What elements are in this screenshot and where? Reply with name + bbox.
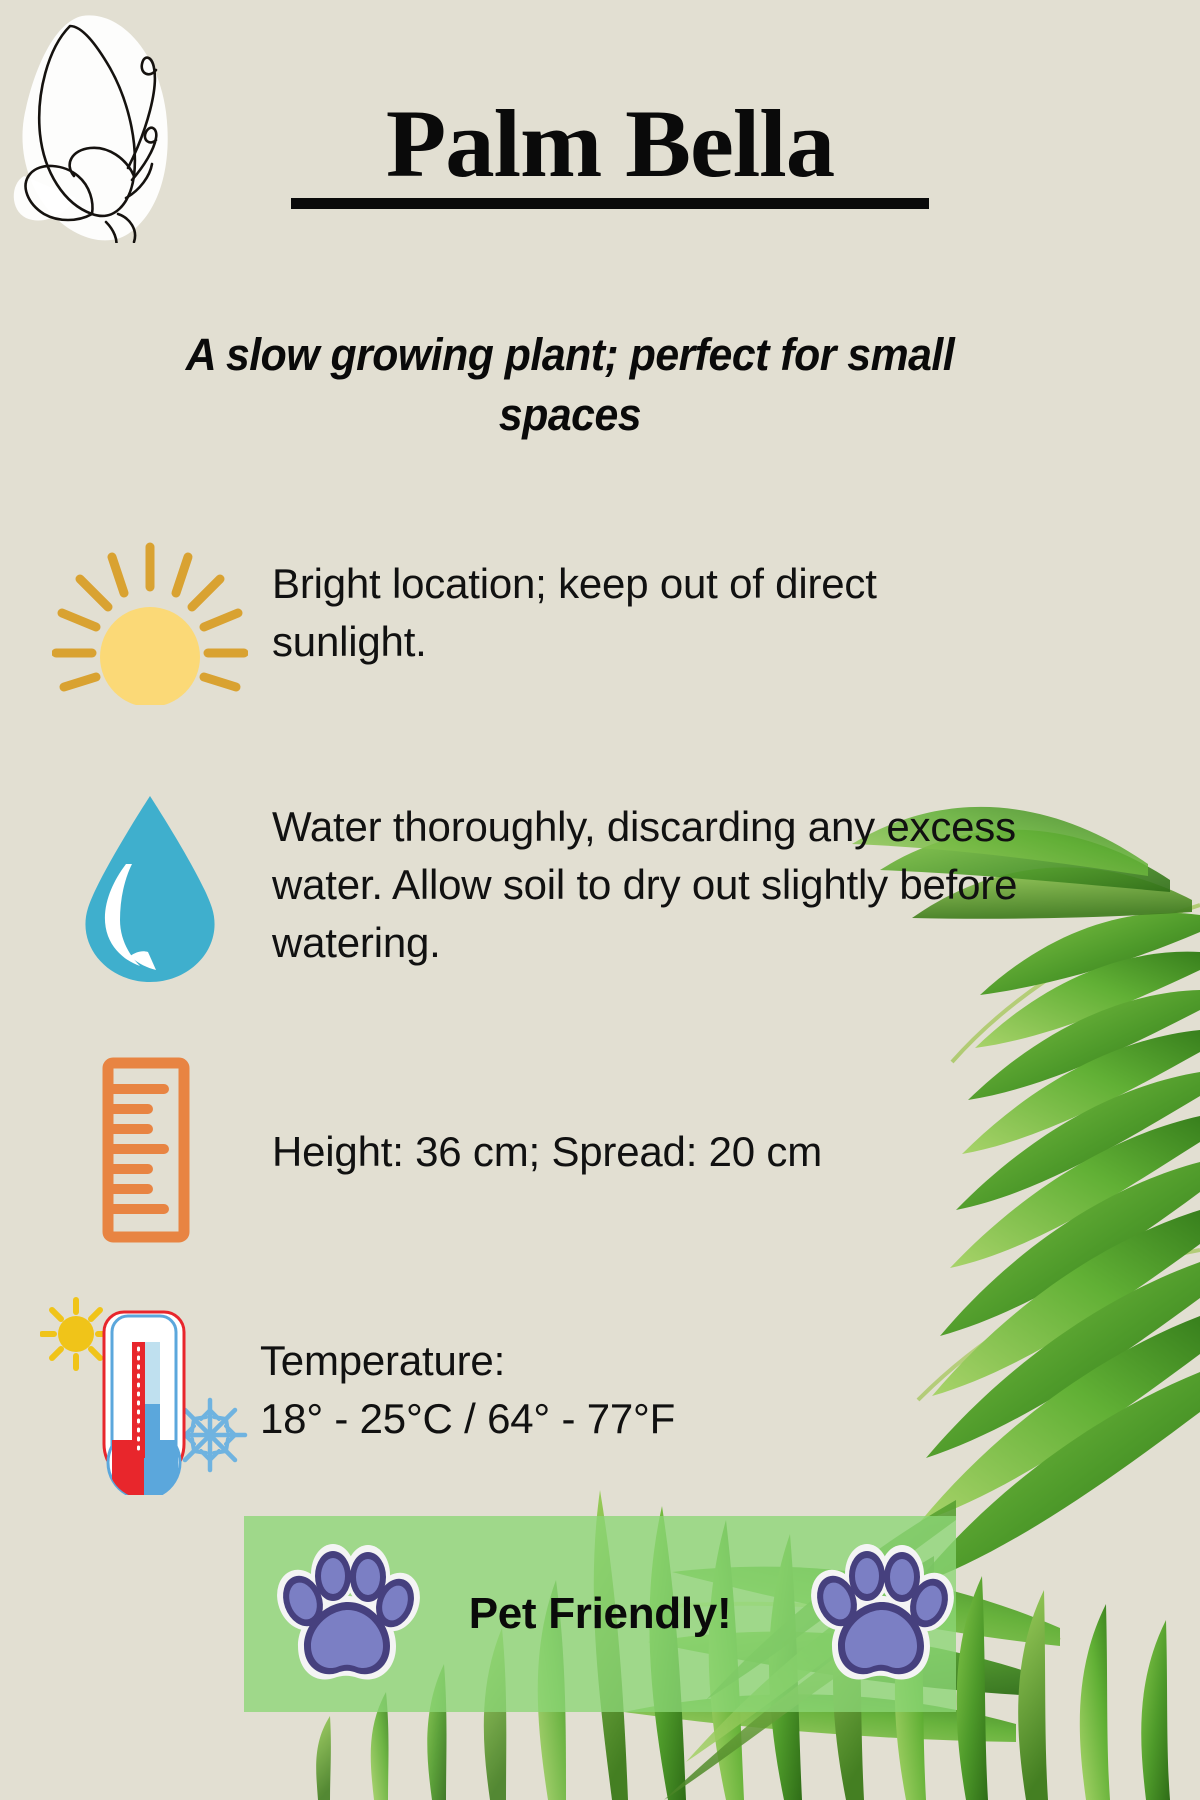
plant-care-card: Palm Bella A slow growing plant; perfect… [0,0,1200,1800]
ruler-icon [52,1055,248,1245]
page-title: Palm Bella [280,96,939,192]
card-header: Palm Bella [0,0,1200,260]
thermometer-icon-wrap [40,1290,248,1495]
title-block: Palm Bella [290,96,930,209]
title-underline [291,198,929,209]
temperature-label: Temperature: [260,1332,1060,1390]
care-text-light: Bright location; keep out of direct sunl… [272,555,1032,671]
pet-friendly-banner: Pet Friendly! [244,1516,956,1712]
subtitle: A slow growing plant; perfect for small … [124,325,1017,445]
care-text-temperature: Temperature: 18° - 25°C / 64° - 77°F [260,1332,1060,1448]
thermometer-icon [40,1290,248,1495]
ruler-icon-wrap [52,1055,248,1245]
water-droplet-icon-wrap [52,790,248,990]
care-row-light: Bright location; keep out of direct sunl… [52,535,1032,705]
care-row-water: Water thoroughly, discarding any excess … [52,790,1072,990]
sun-icon-wrap [52,535,248,705]
care-text-water: Water thoroughly, discarding any excess … [272,798,1072,972]
pet-friendly-label: Pet Friendly! [244,1516,956,1712]
butterfly-line-art-icon [8,8,238,243]
care-row-size: Height: 36 cm; Spread: 20 cm [52,1055,1072,1245]
thermometer-sun-icon [42,1300,110,1368]
care-row-temperature: Temperature: 18° - 25°C / 64° - 77°F [40,1290,1060,1495]
care-text-size: Height: 36 cm; Spread: 20 cm [272,1123,1072,1181]
sun-icon [52,535,248,705]
temperature-range: 18° - 25°C / 64° - 77°F [260,1390,1060,1448]
water-droplet-icon [52,790,248,990]
thermometer-body [104,1312,184,1495]
